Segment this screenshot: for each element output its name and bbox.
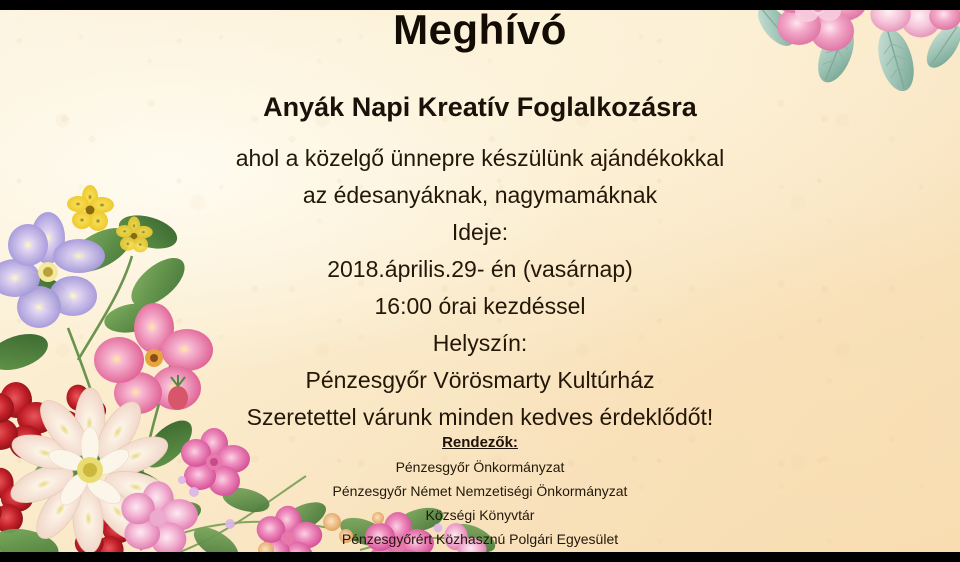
organizer-item: Községi Könyvtár bbox=[0, 503, 960, 527]
detail-line: az édesanyáknak, nagymamáknak bbox=[0, 177, 960, 214]
organizers-section: Rendezők: Pénzesgyőr Önkormányzat Pénzes… bbox=[0, 430, 960, 551]
invitation-text-content: Meghívó Anyák Napi Kreatív Foglalkozásra… bbox=[0, 0, 960, 562]
letterbox-bar-top bbox=[0, 0, 960, 10]
detail-line: 2018.április.29- én (vasárnap) bbox=[0, 251, 960, 288]
detail-line: Pénzesgyőr Vörösmarty Kultúrház bbox=[0, 362, 960, 399]
event-details: ahol a közelgő ünnepre készülünk ajándék… bbox=[0, 140, 960, 436]
organizers-heading: Rendezők: bbox=[0, 430, 960, 455]
detail-line: Helyszín: bbox=[0, 325, 960, 362]
invitation-poster: Meghívó Anyák Napi Kreatív Foglalkozásra… bbox=[0, 0, 960, 562]
organizer-item: Pénzesgyőr Önkormányzat bbox=[0, 455, 960, 479]
detail-line: ahol a közelgő ünnepre készülünk ajándék… bbox=[0, 140, 960, 177]
event-subtitle: Anyák Napi Kreatív Foglalkozásra bbox=[0, 92, 960, 123]
page-title: Meghívó bbox=[0, 6, 960, 54]
organizer-item: Pénzesgyőrért Közhasznú Polgári Egyesüle… bbox=[0, 527, 960, 551]
detail-line: 16:00 órai kezdéssel bbox=[0, 288, 960, 325]
letterbox-bar-bottom bbox=[0, 552, 960, 562]
detail-line: Ideje: bbox=[0, 214, 960, 251]
organizer-item: Pénzesgyőr Német Nemzetiségi Önkormányza… bbox=[0, 479, 960, 503]
